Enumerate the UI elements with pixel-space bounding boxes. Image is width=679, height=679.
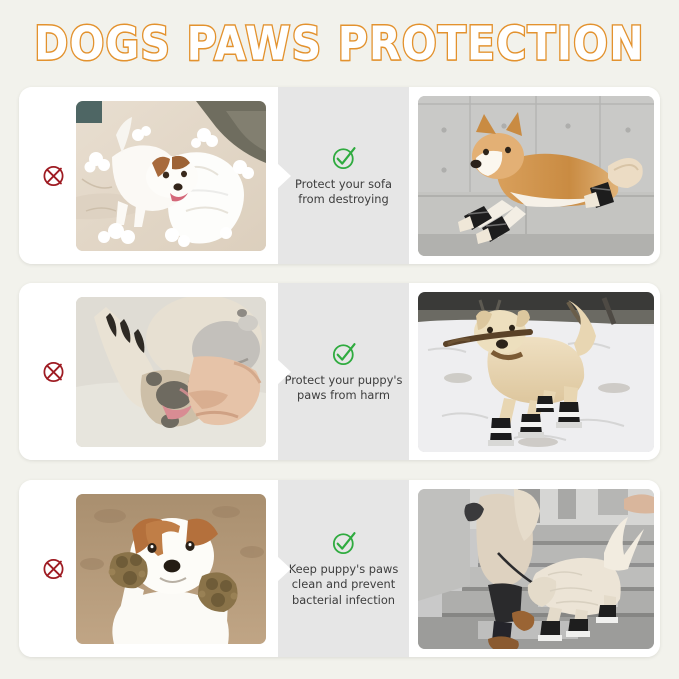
benefit-caption-1: Protect your sofa from destroying — [289, 177, 398, 208]
after-photo-3 — [418, 489, 654, 649]
benefit-caption-3: Keep puppy's paws clean and prevent bact… — [283, 562, 405, 609]
arrow-right-icon — [277, 556, 291, 582]
caption-line: bacterial infection — [289, 593, 399, 609]
benefit-panel-2: Protect your puppy's paws from harm — [278, 283, 409, 460]
page-title-container: DOGS PAWS PROTECTION — [0, 18, 679, 70]
cross-circle-icon — [40, 555, 67, 582]
after-photo-2 — [418, 292, 654, 452]
after-zone-3 — [409, 480, 660, 657]
caption-line: Protect your puppy's — [285, 373, 403, 389]
before-zone-2 — [19, 283, 278, 460]
caption-line: from destroying — [295, 192, 392, 208]
page-title: DOGS PAWS PROTECTION — [34, 17, 644, 71]
benefit-panel-1: Protect your sofa from destroying — [278, 87, 409, 264]
before-photo-3 — [76, 494, 266, 644]
before-zone-3 — [19, 480, 278, 657]
benefit-row-1: Protect your sofa from destroying — [19, 87, 660, 264]
benefit-row-2: Protect your puppy's paws from harm — [19, 283, 660, 460]
arrow-right-icon — [277, 163, 291, 189]
cross-circle-icon — [40, 358, 67, 385]
after-zone-2 — [409, 283, 660, 460]
benefit-panel-3: Keep puppy's paws clean and prevent bact… — [278, 480, 409, 657]
cross-circle-icon — [40, 162, 67, 189]
check-circle-icon — [330, 144, 358, 172]
infographic-page: DOGS PAWS PROTECTION — [0, 0, 679, 679]
arrow-right-icon — [277, 359, 291, 385]
caption-line: paws from harm — [285, 388, 403, 404]
after-zone-1 — [409, 87, 660, 264]
benefit-row-3: Keep puppy's paws clean and prevent bact… — [19, 480, 660, 657]
caption-line: Protect your sofa — [295, 177, 392, 193]
check-circle-icon — [330, 529, 358, 557]
caption-line: clean and prevent — [289, 577, 399, 593]
caption-line: Keep puppy's paws — [289, 562, 399, 578]
benefit-caption-2: Protect your puppy's paws from harm — [279, 373, 409, 404]
before-photo-1 — [76, 101, 266, 251]
after-photo-1 — [418, 96, 654, 256]
check-circle-icon — [330, 340, 358, 368]
before-zone-1 — [19, 87, 278, 264]
before-photo-2 — [76, 297, 266, 447]
